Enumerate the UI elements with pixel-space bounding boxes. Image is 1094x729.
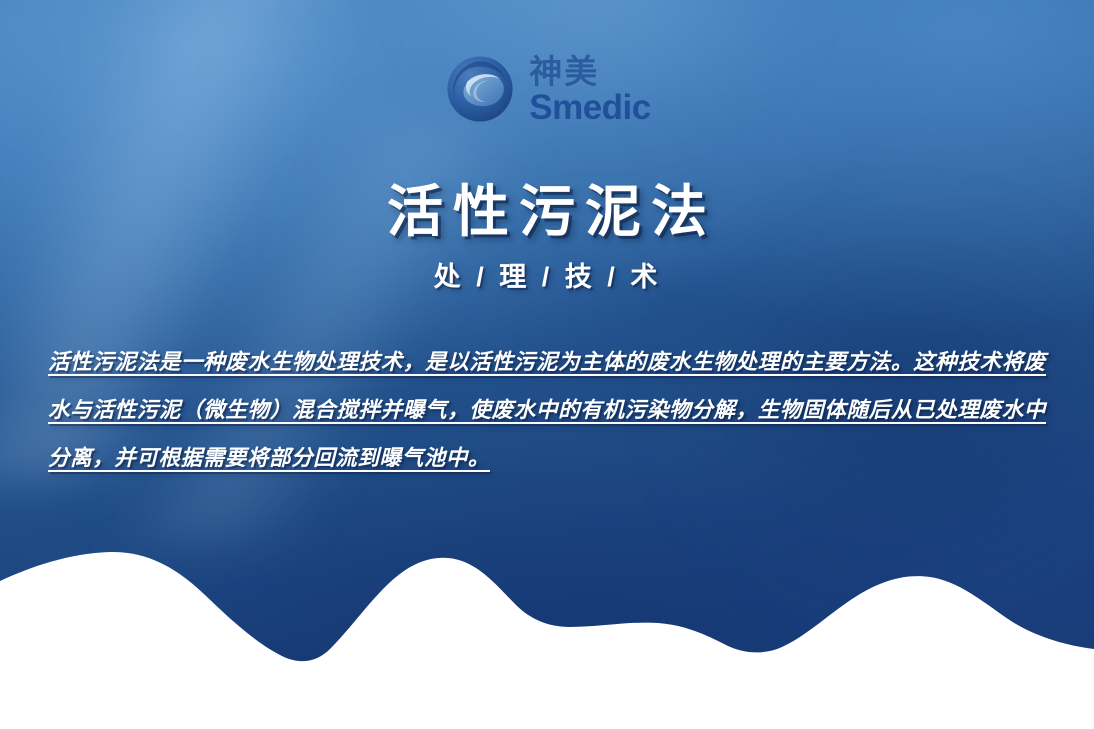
- brand-name-en: Smedic: [529, 90, 651, 125]
- subtitle-part-1: 处: [434, 262, 464, 292]
- brand-wordmark: 神美 Smedic: [529, 55, 651, 125]
- subtitle-part-2: 理: [499, 262, 529, 292]
- subtitle-part-3: 技: [565, 262, 595, 292]
- slide-canvas: 神美 Smedic 活性污泥法 处 / 理 / 技 / 术 活性污泥法是一种废水…: [0, 0, 1094, 729]
- subtitle-separator-1: /: [474, 262, 489, 292]
- brand-name-cn: 神美: [529, 55, 599, 88]
- page-title: 活性污泥法: [0, 167, 1094, 248]
- brand-logo: 神美 Smedic: [0, 52, 1094, 126]
- smedic-sphere-logo-icon: [443, 52, 517, 126]
- subtitle-separator-2: /: [540, 262, 555, 292]
- bottom-wave-decoration: [0, 509, 1094, 729]
- page-subtitle: 处 / 理 / 技 / 术: [0, 255, 1094, 294]
- subtitle-part-4: 术: [630, 262, 660, 292]
- subtitle-separator-3: /: [605, 262, 620, 292]
- body-paragraph: 活性污泥法是一种废水生物处理技术，是以活性污泥为主体的废水生物处理的主要方法。这…: [48, 338, 1046, 482]
